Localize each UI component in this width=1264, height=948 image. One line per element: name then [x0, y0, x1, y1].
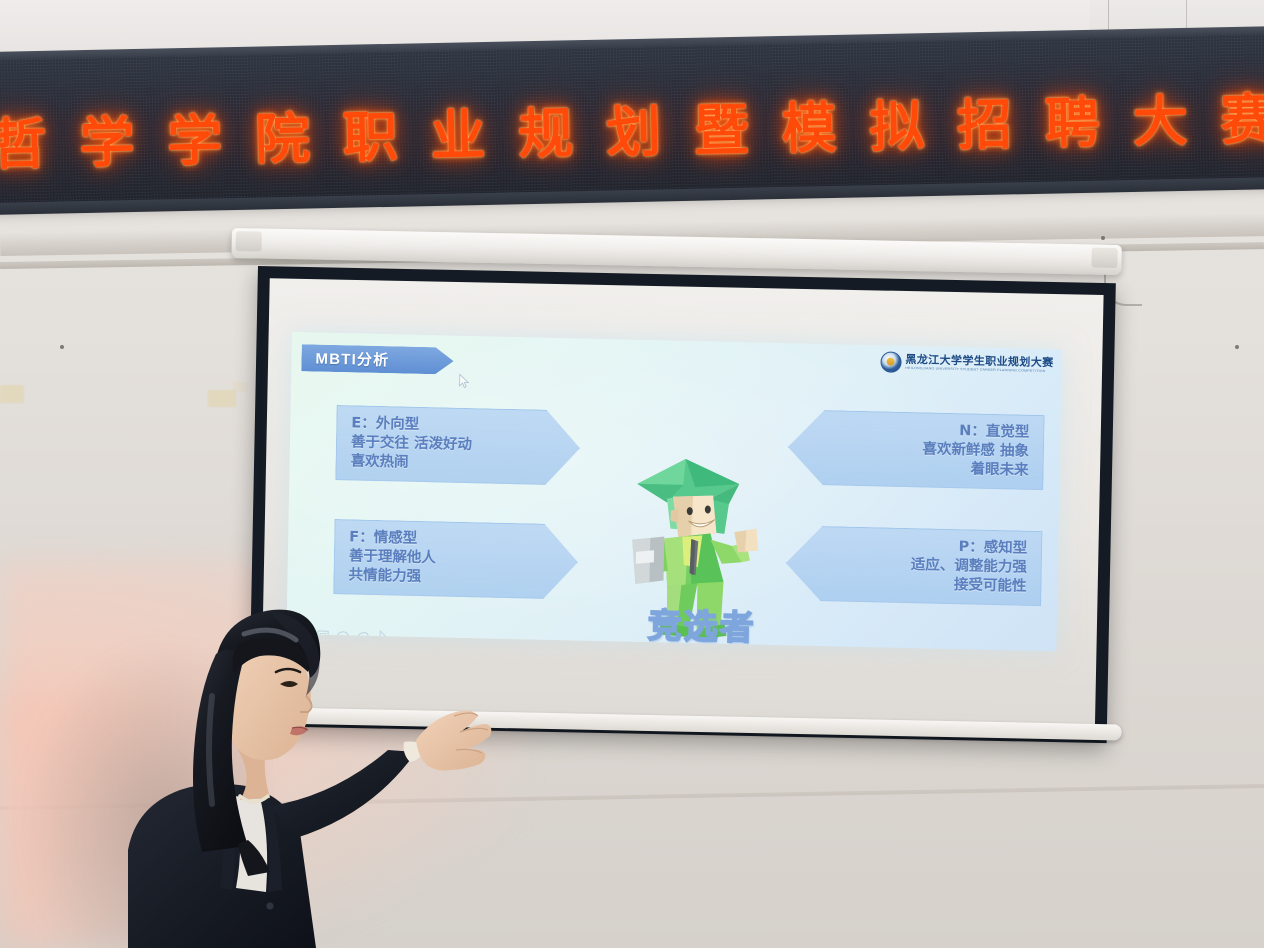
led-char: 划: [605, 86, 662, 167]
led-char: 哲: [0, 99, 47, 180]
classroom-presentation-photo: 哲 学 学 院 职 业 规 划 暨 模 拟 招 聘 大 赛 MBTI分析: [0, 0, 1264, 948]
wall-screw: [1101, 236, 1105, 240]
led-char: 职: [342, 92, 399, 173]
slide-title-text: MBTI分析: [301, 347, 389, 370]
led-char: 招: [956, 79, 1013, 160]
led-char: 模: [781, 83, 838, 164]
mbti-item-f: F：情感型 善于理解他人 共情能力强: [333, 519, 578, 600]
led-char: 大: [1132, 76, 1189, 157]
mbti-n-line3: 着眼未来: [814, 457, 1028, 481]
mouse-cursor-icon: [459, 374, 470, 389]
led-char: 业: [430, 90, 487, 171]
wall-screw: [60, 345, 64, 349]
wall-tape-mark: [208, 390, 236, 407]
roller-cap-left: [236, 231, 262, 251]
competition-logo: 黑龙江大学学生职业规划大赛 HEILONGJIANG UNIVERSITY ST…: [880, 351, 1054, 376]
led-char: 规: [517, 88, 574, 169]
roller-cap-right: [1091, 248, 1117, 268]
wall-tape-mark: [232, 382, 248, 392]
mbti-e-line3: 喜欢热闹: [350, 453, 564, 477]
led-char: 学: [166, 95, 223, 176]
mbti-f-line3: 共情能力强: [348, 567, 562, 591]
led-char: 院: [254, 94, 311, 175]
logo-english-text: HEILONGJIANG UNIVERSITY STUDENT CAREER P…: [905, 367, 1053, 374]
led-char: 学: [79, 97, 136, 178]
led-char: 赛: [1219, 74, 1264, 155]
wall-tape-mark: [0, 385, 24, 403]
mbti-p-line3: 接受可能性: [812, 573, 1026, 597]
presenter-person: [120, 600, 550, 948]
slide-title-banner: MBTI分析: [301, 344, 453, 374]
mbti-item-n: N：直觉型 喜欢新鲜感 抽象 着眼未来: [787, 409, 1044, 490]
mbti-item-p: P：感知型 适应、调整能力强 接受可能性: [785, 525, 1042, 606]
mbti-item-e: E：外向型 善于交往 活泼好动 喜欢热闹: [335, 405, 580, 486]
wall-screw: [1235, 345, 1239, 349]
logo-emblem-icon: [880, 351, 901, 372]
led-char: 暨: [693, 85, 750, 166]
led-char: 聘: [1044, 78, 1101, 159]
led-char: 拟: [868, 81, 925, 162]
led-banner-text: 哲 学 学 院 职 业 规 划 暨 模 拟 招 聘 大 赛: [0, 74, 1264, 180]
